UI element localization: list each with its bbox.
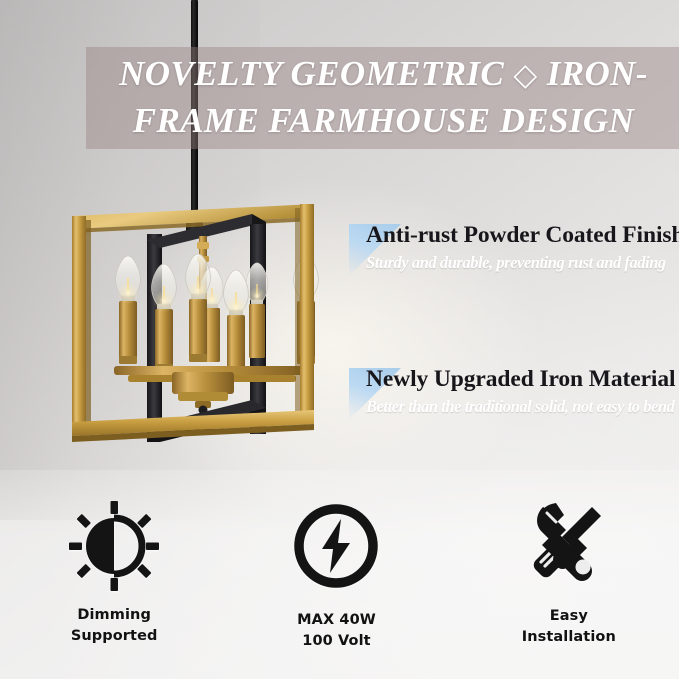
spec-label: Easy Installation <box>522 606 616 647</box>
feature-title: Anti-rust Powder Coated Finish <box>366 222 679 250</box>
infographic-canvas: NOVELTY GEOMETRIC ◇ IRON- FRAME FARMHOUS… <box>0 0 679 679</box>
chandelier-product-image <box>52 196 352 466</box>
feature-subtitle: Sturdy and durable, preventing rust and … <box>366 253 679 273</box>
brightness-dimmer-icon <box>68 498 160 594</box>
spec-label-line-1: MAX 40W <box>297 610 376 631</box>
specification-row: Dimming Supported MAX 40W 100 Volt <box>0 498 679 679</box>
feature-block-anti-rust: Anti-rust Powder Coated Finish Sturdy an… <box>349 222 679 273</box>
feature-subtitle: Better than the traditional solid, not e… <box>366 397 679 417</box>
spec-item-installation: Easy Installation <box>447 498 679 679</box>
spec-label-line-1: Easy <box>522 606 616 627</box>
feature-title: Newly Upgraded Iron Material <box>366 366 679 394</box>
spec-label: MAX 40W 100 Volt <box>297 610 376 651</box>
spec-label-line-2: 100 Volt <box>297 631 376 652</box>
spec-label-line-2: Supported <box>71 626 158 647</box>
spec-item-dimming: Dimming Supported <box>0 498 224 679</box>
lightning-bolt-circle-icon <box>292 498 380 594</box>
headline-line-1-lead: NOVELTY GEOMETRIC <box>119 54 504 93</box>
spec-item-wattage: MAX 40W 100 Volt <box>224 498 446 679</box>
feature-block-iron-material: Newly Upgraded Iron Material Better than… <box>349 366 679 417</box>
headline-banner: NOVELTY GEOMETRIC ◇ IRON- FRAME FARMHOUS… <box>86 47 679 149</box>
headline-line-1-tail: IRON- <box>547 54 648 93</box>
diamond-icon: ◇ <box>513 57 537 92</box>
spec-label-line-2: Installation <box>522 627 616 648</box>
pliers-screwdriver-icon <box>523 498 615 594</box>
spec-label: Dimming Supported <box>71 605 158 646</box>
headline-text: NOVELTY GEOMETRIC ◇ IRON- FRAME FARMHOUS… <box>86 51 679 145</box>
headline-line-2: FRAME FARMHOUSE DESIGN <box>133 101 635 140</box>
spec-label-line-1: Dimming <box>71 605 158 626</box>
